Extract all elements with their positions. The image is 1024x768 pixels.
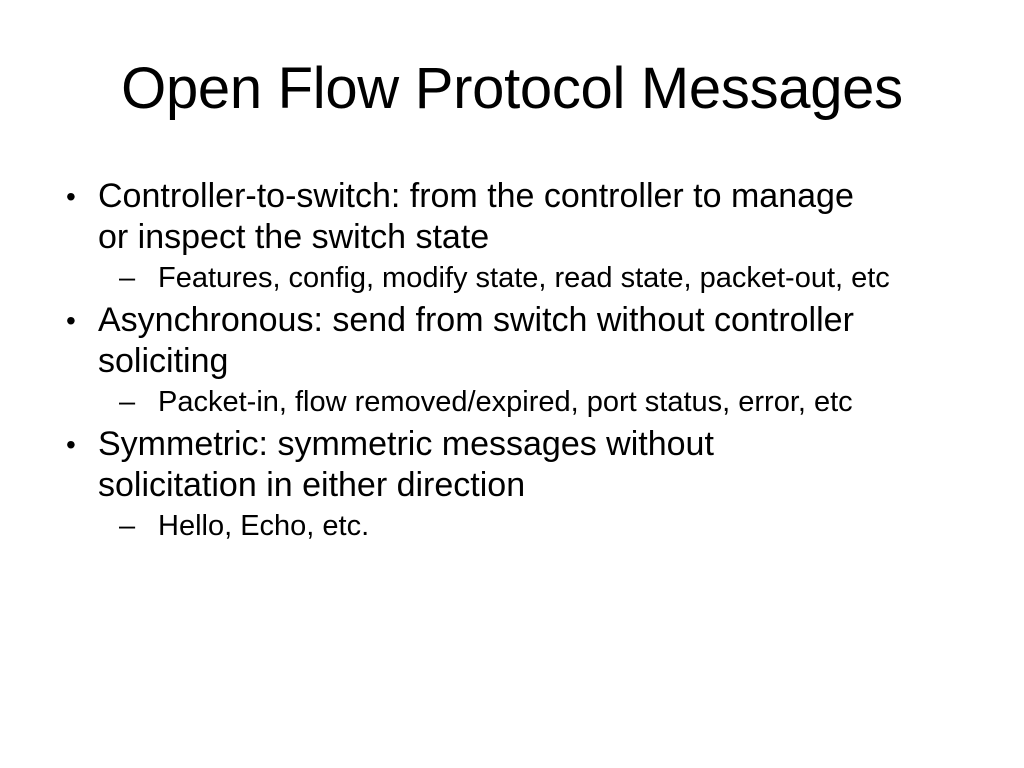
bullet-dash-icon: – <box>119 385 149 420</box>
sub-bullet-item: – Features, config, modify state, read s… <box>113 261 964 296</box>
bullet-dot-icon: • <box>66 424 88 465</box>
sub-bullet-item: – Hello, Echo, etc. <box>113 509 964 544</box>
bullet-list: • Controller-to-switch: from the control… <box>60 176 964 544</box>
slide: Open Flow Protocol Messages • Controller… <box>0 0 1024 768</box>
bullet-item: • Asynchronous: send from switch without… <box>60 300 964 420</box>
slide-body: • Controller-to-switch: from the control… <box>60 176 964 548</box>
bullet-dash-icon: – <box>119 261 149 296</box>
bullet-dot-icon: • <box>66 300 88 341</box>
sub-bullet-text: Packet-in, flow removed/expired, port st… <box>158 385 964 420</box>
bullet-text: Symmetric: symmetric messages without so… <box>98 424 858 506</box>
bullet-item: • Symmetric: symmetric messages without … <box>60 424 964 544</box>
slide-title: Open Flow Protocol Messages <box>0 56 1024 122</box>
sub-bullet-list: – Features, config, modify state, read s… <box>98 261 964 296</box>
bullet-text: Asynchronous: send from switch without c… <box>98 300 858 382</box>
bullet-text: Controller-to-switch: from the controlle… <box>98 176 858 258</box>
bullet-dot-icon: • <box>66 176 88 217</box>
sub-bullet-item: – Packet-in, flow removed/expired, port … <box>113 385 964 420</box>
bullet-item: • Controller-to-switch: from the control… <box>60 176 964 296</box>
bullet-dash-icon: – <box>119 509 149 544</box>
sub-bullet-text: Hello, Echo, etc. <box>158 509 964 544</box>
sub-bullet-list: – Hello, Echo, etc. <box>98 509 964 544</box>
sub-bullet-list: – Packet-in, flow removed/expired, port … <box>98 385 964 420</box>
sub-bullet-text: Features, config, modify state, read sta… <box>158 261 964 296</box>
